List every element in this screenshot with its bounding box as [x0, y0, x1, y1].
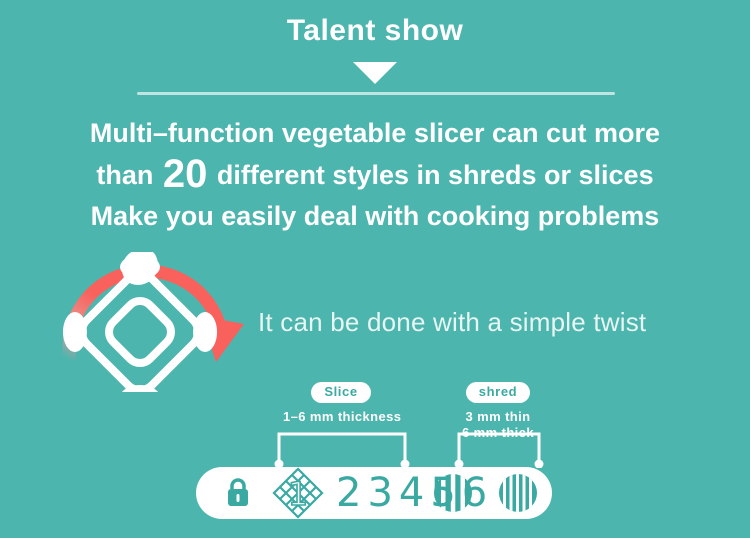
- diamond-mesh-number-one-icon: 1: [274, 469, 322, 517]
- headline-line-3-text: Make you easily deal with cooking proble…: [91, 201, 660, 231]
- promo-banner: Talent show Multi–function vegetable sli…: [0, 0, 750, 538]
- twist-illustration-svg: [62, 252, 272, 392]
- slice-bracket: [265, 428, 425, 468]
- header-divider: [137, 92, 615, 95]
- dial-digits: 23456: [336, 472, 493, 514]
- headline-line-1: Multi–function vegetable slicer can cut …: [0, 113, 750, 154]
- headline-line-2-after: different styles in shreds or slices: [217, 160, 654, 190]
- spec-group-slice: Slice 1–6 mm thickness: [283, 382, 399, 425]
- setting-dial[interactable]: 1: [196, 467, 552, 519]
- twist-illustration: [62, 252, 272, 392]
- headline-block: Multi–function vegetable slicer can cut …: [0, 113, 750, 237]
- page-title: Talent show: [0, 12, 750, 50]
- headline-line-3: Make you easily deal with cooking proble…: [0, 196, 750, 237]
- headline-style-count: 20: [161, 152, 210, 196]
- shred-bracket: [445, 428, 565, 468]
- slice-badge: Slice: [311, 382, 370, 403]
- twist-caption: It can be done with a simple twist: [258, 307, 698, 338]
- headline-line-2-before: than: [96, 160, 153, 190]
- rotating-blade-diamond-icon: [62, 252, 239, 392]
- fine-shred-disc-icon: [499, 473, 537, 513]
- shred-detail-line-1: 3 mm thin: [452, 409, 544, 425]
- padlock-icon: [228, 480, 248, 506]
- dial-setting-one-label: 1: [288, 475, 308, 513]
- slice-detail-line-1: 1–6 mm thickness: [283, 409, 399, 425]
- triangle-down-icon: [353, 62, 397, 84]
- headline-line-2: than 20 different styles in shreds or sl…: [0, 154, 750, 196]
- headline-line-1-text: Multi–function vegetable slicer can cut …: [90, 118, 660, 148]
- shred-badge: shred: [466, 382, 530, 403]
